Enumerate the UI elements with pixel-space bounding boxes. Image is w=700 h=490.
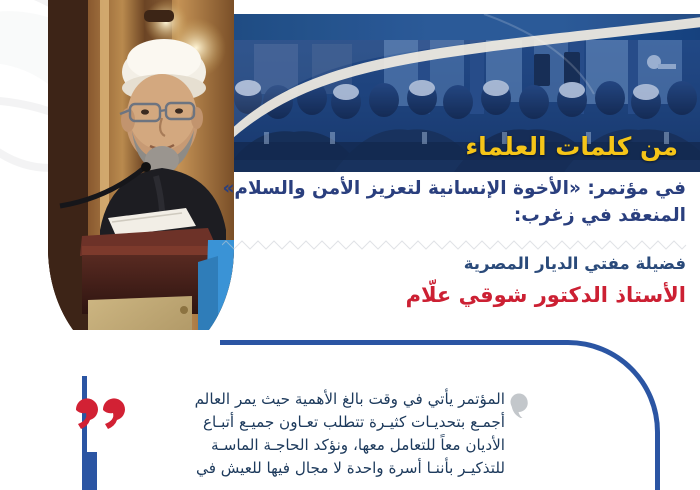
- speaker-photo: WESTIN: [48, 0, 234, 368]
- zigzag-divider: [222, 240, 690, 250]
- mufti-role: فضيلة مفتي الديار المصرية: [226, 252, 686, 277]
- conference-title-block: في مؤتمر: «الأخوة الإنسانية لتعزيز الأمن…: [226, 176, 686, 230]
- quote-accent-bar: [84, 452, 97, 490]
- quote-line-3: الأديان معاً للتعامل معها، ونؤكد الحاجـة…: [183, 434, 505, 457]
- mufti-block: فضيلة مفتي الديار المصرية الأستاذ الدكتو…: [226, 252, 686, 310]
- mufti-name: الأستاذ الدكتور شوقي علّام: [226, 281, 686, 310]
- quote-text: المؤتمر يأتي في وقت بالغ الأهمية حيث يمر…: [183, 388, 505, 480]
- quote-line-1: المؤتمر يأتي في وقت بالغ الأهمية حيث يمر…: [183, 388, 505, 411]
- quote-line-4: للتذكيـر بأننـا أسرة واحدة لا مجال فيها …: [183, 457, 505, 480]
- header-banner: من كلمات العلماء: [234, 14, 700, 172]
- conference-title-line-1: في مؤتمر: «الأخوة الإنسانية لتعزيز الأمن…: [226, 176, 686, 203]
- quote-frame-mask: [70, 330, 220, 376]
- quote-open-icon: [72, 388, 128, 430]
- band-title: من كلمات العلماء: [465, 132, 678, 161]
- poster-root: WESTIN: [0, 0, 700, 490]
- quote-line-2: أجمـع بتحديـات كثيـرة تتطلب تعـاون جميـع…: [183, 411, 505, 434]
- conference-title-line-2: المنعقد في زغرب:: [226, 203, 686, 230]
- speaker-photo-art: WESTIN: [48, 0, 234, 368]
- quote-close-icon: [508, 392, 530, 418]
